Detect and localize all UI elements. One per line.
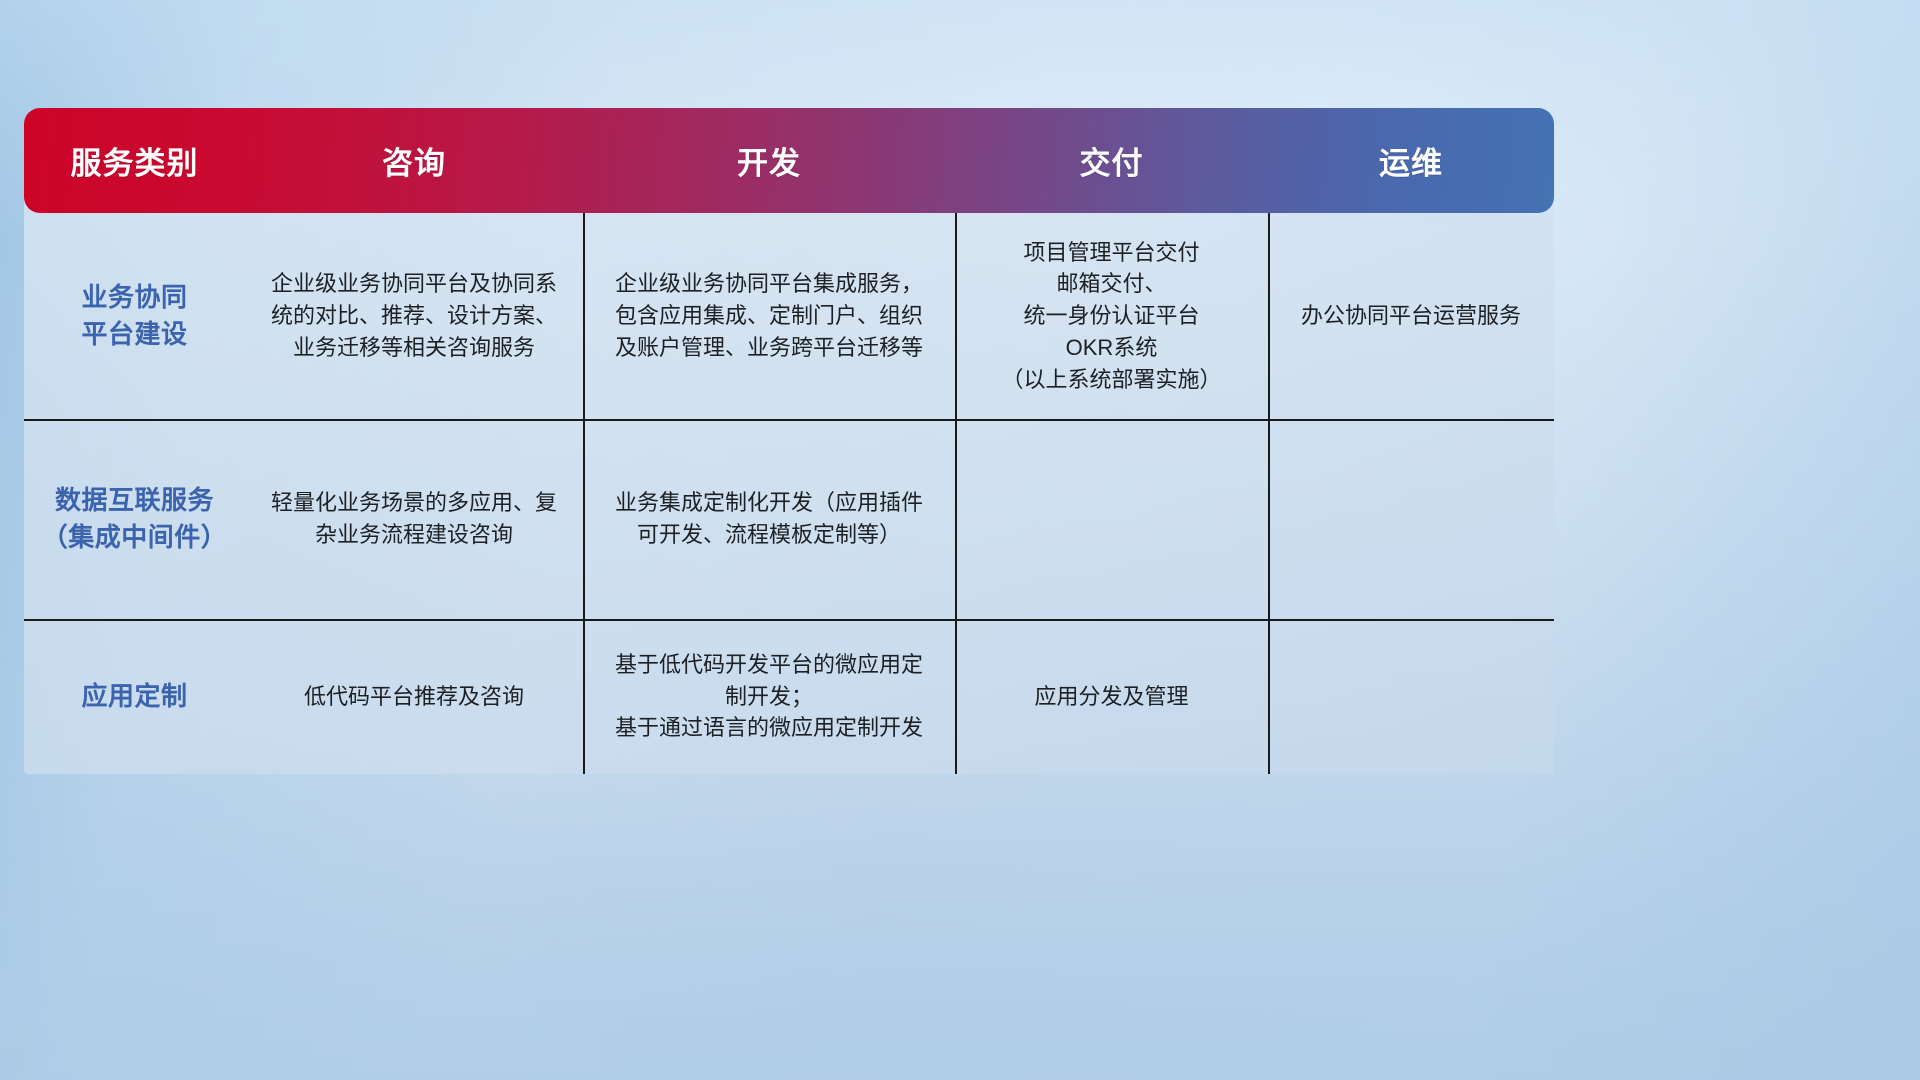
cell-text: 企业级业务协同平台及协同系 统的对比、推荐、设计方案、 业务迁移等相关咨询服务 bbox=[271, 268, 557, 363]
column-header-development: 开发 bbox=[583, 138, 955, 183]
cell-development: 业务集成定制化开发（应用插件 可开发、流程模板定制等） bbox=[583, 419, 955, 619]
category-label: 业务协同 平台建设 bbox=[81, 279, 187, 353]
cell-text: 低代码平台推荐及咨询 bbox=[304, 681, 524, 713]
table-row: 数据互联服务 （集成中间件） 轻量化业务场景的多应用、复 杂业务流程建设咨询 业… bbox=[24, 419, 1554, 619]
cell-consulting: 轻量化业务场景的多应用、复 杂业务流程建设咨询 bbox=[245, 419, 583, 619]
cell-category: 应用定制 bbox=[24, 619, 245, 774]
column-header-consulting: 咨询 bbox=[245, 138, 583, 183]
cell-category: 数据互联服务 （集成中间件） bbox=[24, 419, 245, 619]
category-label: 数据互联服务 （集成中间件） bbox=[42, 482, 228, 556]
table-body: 业务协同 平台建设 企业级业务协同平台及协同系 统的对比、推荐、设计方案、 业务… bbox=[24, 213, 1554, 774]
column-header-delivery: 交付 bbox=[955, 138, 1268, 183]
cell-delivery bbox=[955, 419, 1268, 619]
category-label: 应用定制 bbox=[81, 678, 187, 715]
cell-text: 业务集成定制化开发（应用插件 可开发、流程模板定制等） bbox=[615, 487, 923, 550]
column-divider bbox=[583, 213, 585, 774]
table-row: 应用定制 低代码平台推荐及咨询 基于低代码开发平台的微应用定 制开发； 基于通过… bbox=[24, 619, 1554, 774]
cell-delivery: 项目管理平台交付 邮箱交付、 统一身份认证平台 OKR系统 （以上系统部署实施） bbox=[955, 213, 1268, 419]
table-row: 业务协同 平台建设 企业级业务协同平台及协同系 统的对比、推荐、设计方案、 业务… bbox=[24, 213, 1554, 419]
cell-text: 应用分发及管理 bbox=[1034, 681, 1188, 713]
service-matrix-table: 服务类别 咨询 开发 交付 运维 业务协同 平台建设 企业级业务协同平台及协同系… bbox=[24, 108, 1554, 774]
cell-development: 企业级业务协同平台集成服务， 包含应用集成、定制门户、组织 及账户管理、业务跨平… bbox=[583, 213, 955, 419]
row-divider bbox=[24, 419, 1554, 421]
cell-operations bbox=[1268, 419, 1554, 619]
cell-text: 企业级业务协同平台集成服务， 包含应用集成、定制门户、组织 及账户管理、业务跨平… bbox=[615, 268, 923, 363]
column-divider bbox=[955, 213, 957, 774]
cell-text: 轻量化业务场景的多应用、复 杂业务流程建设咨询 bbox=[271, 487, 557, 550]
cell-text: 办公协同平台运营服务 bbox=[1301, 300, 1521, 332]
table-header-row: 服务类别 咨询 开发 交付 运维 bbox=[24, 108, 1554, 213]
column-header-service-category: 服务类别 bbox=[24, 138, 245, 183]
cell-delivery: 应用分发及管理 bbox=[955, 619, 1268, 774]
cell-consulting: 低代码平台推荐及咨询 bbox=[245, 619, 583, 774]
cell-text: 项目管理平台交付 邮箱交付、 统一身份认证平台 OKR系统 （以上系统部署实施） bbox=[1001, 237, 1221, 395]
cell-development: 基于低代码开发平台的微应用定 制开发； 基于通过语言的微应用定制开发 bbox=[583, 619, 955, 774]
column-header-operations: 运维 bbox=[1268, 138, 1554, 183]
cell-operations bbox=[1268, 619, 1554, 774]
cell-text: 基于低代码开发平台的微应用定 制开发； 基于通过语言的微应用定制开发 bbox=[615, 649, 923, 744]
cell-operations: 办公协同平台运营服务 bbox=[1268, 213, 1554, 419]
column-divider bbox=[1268, 213, 1270, 774]
cell-consulting: 企业级业务协同平台及协同系 统的对比、推荐、设计方案、 业务迁移等相关咨询服务 bbox=[245, 213, 583, 419]
cell-category: 业务协同 平台建设 bbox=[24, 213, 245, 419]
row-divider bbox=[24, 619, 1554, 621]
